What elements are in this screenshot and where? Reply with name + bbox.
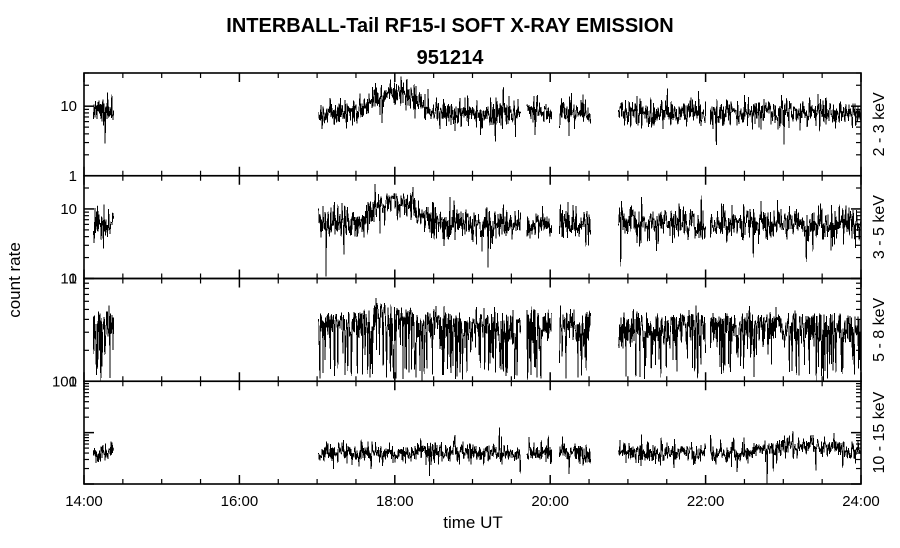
y-tick-label: 1: [69, 168, 77, 185]
energy-band-label: 3 - 5 keV: [871, 195, 888, 259]
y-axis-label: count rate: [5, 242, 24, 318]
y-tick-label: 100: [52, 373, 77, 390]
x-tick-label: 18:00: [376, 493, 414, 510]
figure-panel: INTERBALL-Tail RF15-I SOFT X-RAY EMISSIO…: [0, 0, 900, 548]
y-tick-label: 10: [60, 201, 77, 218]
chart-background: [0, 0, 900, 548]
energy-band-label: 10 - 15 keV: [871, 391, 888, 473]
chart-title: INTERBALL-Tail RF15-I SOFT X-RAY EMISSIO…: [226, 15, 673, 37]
x-tick-label: 20:00: [531, 493, 569, 510]
x-tick-label: 22:00: [687, 493, 725, 510]
energy-band-label: 2 - 3 keV: [871, 92, 888, 156]
x-tick-label: 24:00: [842, 493, 880, 510]
y-tick-label: 10: [60, 271, 77, 288]
x-tick-label: 16:00: [221, 493, 259, 510]
y-tick-label: 10: [60, 98, 77, 115]
chart-subtitle: 951214: [417, 47, 485, 69]
energy-band-label: 5 - 8 keV: [871, 298, 888, 362]
xray-emission-chart: INTERBALL-Tail RF15-I SOFT X-RAY EMISSIO…: [0, 0, 900, 548]
x-tick-label: 14:00: [65, 493, 103, 510]
x-axis-label: time UT: [443, 513, 503, 532]
